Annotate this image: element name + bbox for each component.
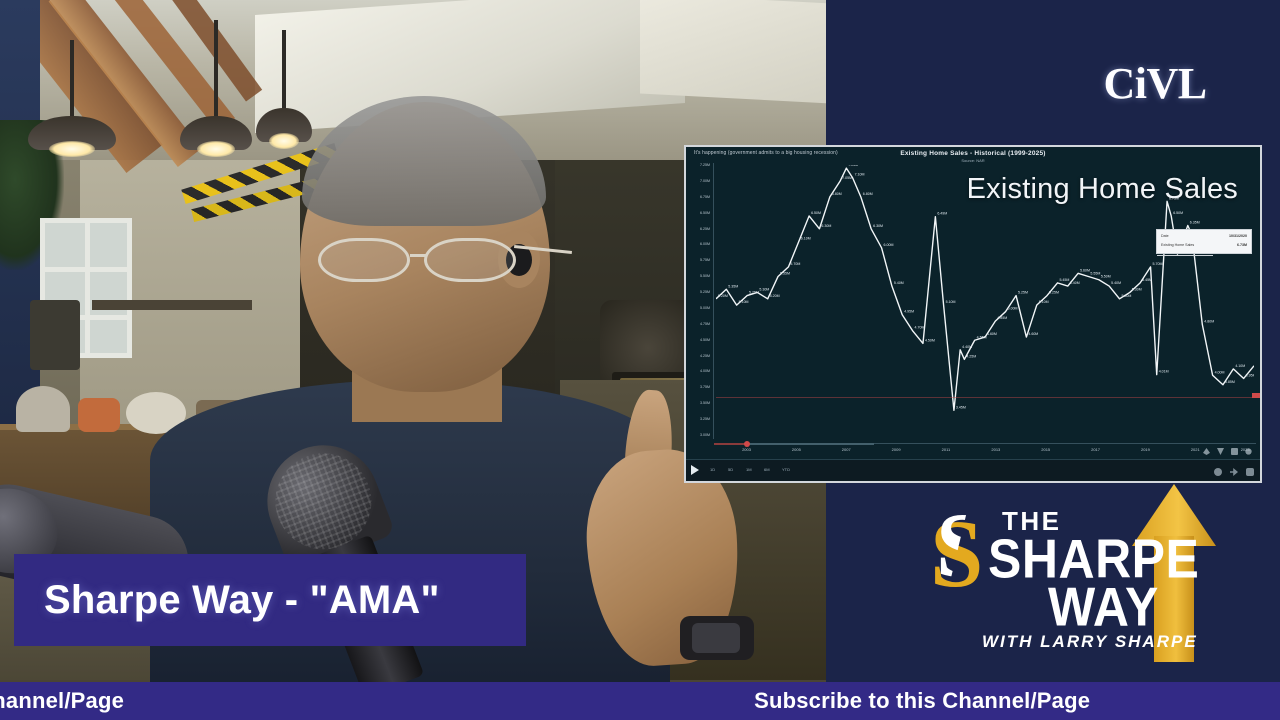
data-point-label: 5.40M [1111, 281, 1121, 285]
range-1d[interactable]: 1D [710, 467, 715, 472]
tooltip-row2-value: 6.73M [1237, 243, 1247, 247]
y-axis-tick: 4.50M [700, 338, 710, 342]
ticker-item: Subscribe to this Channel/Page [754, 688, 1280, 714]
data-point-label: 5.10M [1039, 300, 1049, 304]
data-point-label: 4.10M [1235, 364, 1245, 368]
x-axis-tick: 2007 [842, 447, 851, 452]
data-point-label: 6.30M [873, 224, 883, 228]
y-axis-tick: 7.25M [700, 163, 710, 167]
data-point-label: 4.80M [1204, 319, 1214, 323]
tooltip-row2-label: Existing Home Sales [1161, 243, 1194, 247]
logo-way: WAY [1048, 575, 1159, 639]
chart-bottom-right-tools[interactable] [1214, 468, 1254, 476]
camera-icon[interactable] [1246, 468, 1254, 476]
x-axis-tick: 2019 [1141, 447, 1150, 452]
data-point-label: 5.70M [790, 262, 800, 266]
skylight-panel-2 [640, 0, 826, 107]
note-icon[interactable] [1231, 448, 1238, 455]
data-point-label: 6.50M [811, 211, 821, 215]
play-icon[interactable] [691, 465, 699, 475]
chart-y-axis: 7.25M7.00M6.75M6.50M6.25M6.00M5.75M5.50M… [688, 163, 714, 439]
data-point-label: 5.20M [1121, 294, 1131, 298]
data-point-label: 5.00M [1008, 307, 1018, 311]
data-point-label: 5.70M [1153, 262, 1163, 266]
range-6m[interactable]: 6M [764, 467, 770, 472]
tooltip-leader-line [1157, 255, 1213, 256]
data-point-label: 5.45M [1059, 278, 1069, 282]
logo-with-larry-sharpe: WITH LARRY SHARPE [982, 632, 1198, 652]
ticker-item: Subscribe to this Channel/Page [0, 688, 754, 714]
range-1m[interactable]: 1M [746, 467, 752, 472]
shared-chart-panel[interactable]: It's happening (government admits to a b… [684, 145, 1262, 483]
data-point-label: 4.25M [966, 354, 976, 358]
data-point-label: 5.30M [759, 287, 769, 291]
chart-source: Source: NAR [686, 158, 1260, 163]
y-axis-tick: 6.75M [700, 195, 710, 199]
chart-x-axis: 2003200520072009201120132015201720192021… [714, 443, 1256, 457]
chart-reference-line [716, 397, 1254, 398]
data-point-label: 5.55M [1090, 272, 1100, 276]
range-5d[interactable]: 5D [728, 467, 733, 472]
data-point-label: 4.55M [977, 335, 987, 339]
tooltip-row1-value: 10/31/2020 [1229, 234, 1247, 238]
x-axis-tick: 2013 [991, 447, 1000, 452]
data-point-label: 6.73M [1169, 196, 1179, 200]
y-axis-tick: 3.75M [700, 385, 710, 389]
data-point-label: 3.95M [1246, 374, 1254, 378]
data-point-label: 4.95M [904, 310, 914, 314]
data-point-label: 5.20M [770, 294, 780, 298]
y-axis-tick: 6.50M [700, 211, 710, 215]
subscribe-ticker: Subscribe to this Channel/PageSubscribe … [0, 682, 1280, 720]
desk-object [78, 398, 120, 432]
y-axis-tick: 3.25M [700, 417, 710, 421]
data-point-label: 4.60M [1028, 332, 1038, 336]
data-point-label: 5.45M [1142, 278, 1152, 282]
data-point-label: 5.25M [1018, 291, 1028, 295]
chart-tooltip: Date 10/31/2020 Existing Home Sales 6.73… [1156, 229, 1252, 254]
y-axis-tick: 4.75M [700, 322, 710, 326]
desk-object [30, 300, 80, 370]
x-axis-tick: 2009 [892, 447, 901, 452]
data-point-label: 5.30M [1132, 287, 1142, 291]
lower-third-caption: Sharpe Way - "AMA" [14, 554, 526, 646]
data-point-label: 5.60M [1080, 268, 1090, 272]
data-point-label: 6.00M [884, 243, 894, 247]
x-axis-tick: 2005 [792, 447, 801, 452]
data-point-label: 5.40M [894, 281, 904, 285]
data-point-label: 4.85M [997, 316, 1007, 320]
caption-text: Sharpe Way - "AMA" [44, 578, 440, 623]
pendant-lamp [180, 20, 252, 150]
data-point-label: 6.10M [801, 237, 811, 241]
sharpe-way-logo: S S THE SHARPE WAY WITH LARRY SHARPE [930, 492, 1230, 664]
pendant-lamp [28, 40, 116, 150]
civl-logo-text: CiVL [1103, 59, 1206, 108]
y-axis-tick: 5.00M [700, 306, 710, 310]
data-point-label: 4.01M [1159, 370, 1169, 374]
chart-drawing-tools[interactable] [1203, 448, 1252, 455]
tooltip-row1-label: Date [1161, 234, 1169, 238]
data-point-label: 5.10M [739, 300, 749, 304]
data-point-label: 5.25M [749, 291, 759, 295]
circle-icon[interactable] [1214, 468, 1222, 476]
pendant-lamp [256, 30, 312, 142]
host-watch [680, 616, 754, 660]
data-point-label: 5.55M [780, 272, 790, 276]
data-point-label: 5.25M [1049, 291, 1059, 295]
y-axis-tick: 5.75M [700, 258, 710, 262]
x-axis-tick: 2015 [1041, 447, 1050, 452]
data-point-label: 6.49M [937, 212, 947, 216]
y-axis-tick: 3.50M [700, 401, 710, 405]
data-point-label: 6.80M [863, 192, 873, 196]
chart-last-price-marker [1252, 393, 1262, 398]
y-axis-tick: 6.25M [700, 227, 710, 231]
y-axis-tick: 4.00M [700, 369, 710, 373]
y-axis-tick: 3.00M [700, 433, 710, 437]
data-point-label: 7.05M [842, 176, 852, 180]
y-axis-tick: 5.25M [700, 290, 710, 294]
chart-title: Existing Home Sales - Historical (1999-2… [686, 150, 1260, 157]
x-axis-tick: 2017 [1091, 447, 1100, 452]
data-point-label: 5.40M [1070, 281, 1080, 285]
brush-icon[interactable] [1203, 448, 1210, 455]
data-point-label: 4.50M [925, 338, 935, 342]
scrollbar-knob[interactable] [744, 441, 750, 447]
civl-network-logo: CiVL [1090, 58, 1220, 110]
y-axis-tick: 7.00M [700, 179, 710, 183]
ticker-track: Subscribe to this Channel/PageSubscribe … [0, 682, 1280, 720]
data-point-label: 7.25M [848, 165, 858, 167]
data-point-label: 3.85M [1225, 380, 1235, 384]
data-point-label: 5.20M [718, 294, 728, 298]
data-point-label: 7.10M [855, 173, 865, 177]
y-axis-tick: 4.25M [700, 354, 710, 358]
desk-object [16, 386, 70, 432]
x-axis-tick: 2021 [1191, 447, 1200, 452]
x-axis-tick: 2011 [942, 447, 951, 452]
chart-range-scrollbar[interactable] [714, 443, 874, 445]
data-point-label: 4.00M [1215, 370, 1225, 374]
y-axis-tick: 6.00M [700, 242, 710, 246]
shelf [92, 300, 252, 310]
data-point-label: 4.60M [987, 332, 997, 336]
broadcast-stage: CiVL [0, 0, 1280, 720]
data-point-label: 6.80M [832, 192, 842, 196]
data-point-label: 4.70M [915, 326, 925, 330]
host-glasses [318, 238, 538, 282]
data-point-label: 5.50M [1101, 275, 1111, 279]
chart-bottom-toolbar[interactable]: 1D 5D 1M 6M YTD [686, 459, 1260, 481]
x-axis-tick: 2003 [742, 447, 751, 452]
data-point-label: 6.30M [821, 224, 831, 228]
data-point-label: 5.35M [728, 284, 738, 288]
data-point-label: 6.35M [1190, 221, 1200, 225]
share-icon[interactable] [1230, 468, 1238, 476]
data-point-label: 5.10M [946, 300, 956, 304]
dot-icon[interactable] [1245, 448, 1252, 455]
range-ytd[interactable]: YTD [782, 467, 790, 472]
y-axis-tick: 5.50M [700, 274, 710, 278]
data-point-label: 4.40M [962, 345, 972, 349]
data-point-label: 6.50M [1173, 211, 1183, 215]
data-point-label: 3.45M [956, 405, 966, 409]
chart-canvas: It's happening (government admits to a b… [686, 147, 1260, 481]
flag-icon[interactable] [1217, 448, 1224, 455]
